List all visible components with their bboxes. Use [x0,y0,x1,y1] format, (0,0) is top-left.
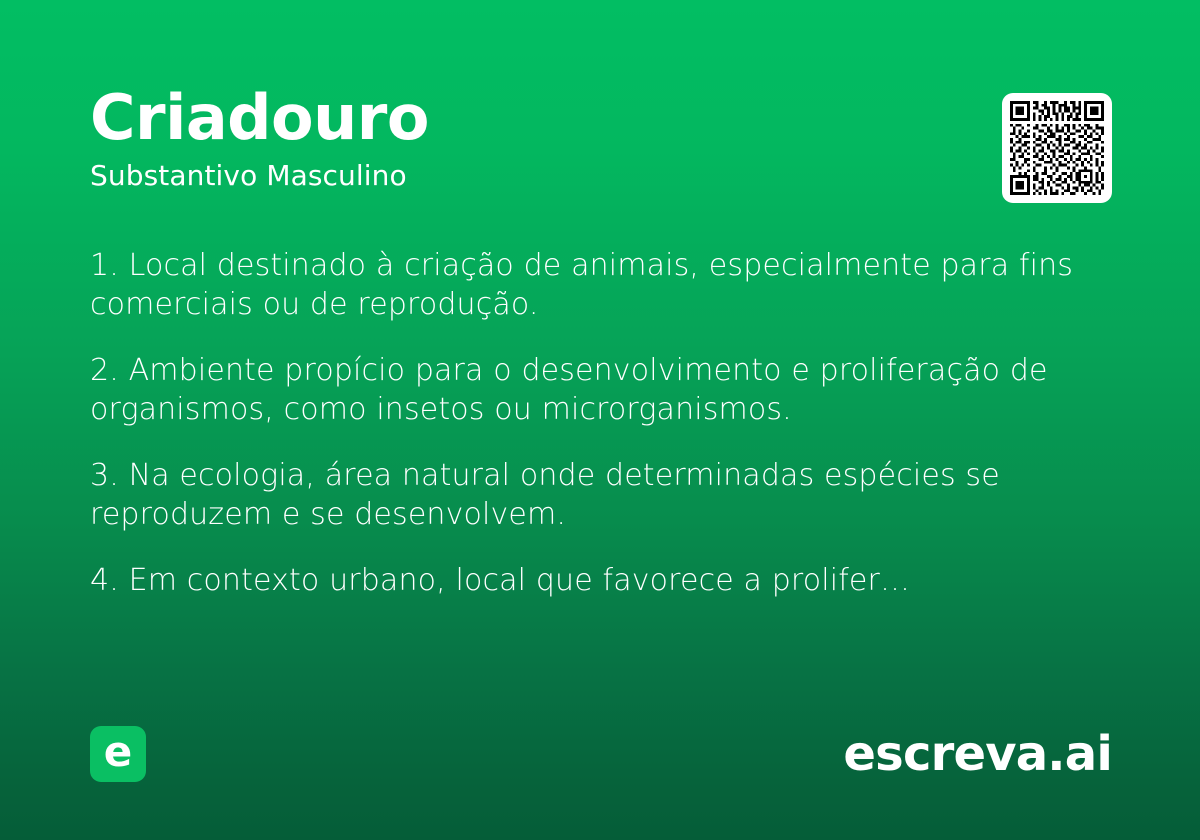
escreva-logo-icon: e [90,726,146,782]
definition-item: 2. Ambiente propício para o desenvolvime… [90,351,1090,429]
brand-wordmark: escreva.ai [843,728,1112,780]
logo-letter: e [104,731,133,773]
qr-code-icon [1010,101,1104,195]
word-class-label: Substantivo Masculino [90,160,1110,192]
card-header: Criadouro Substantivo Masculino [90,84,1110,214]
definition-item: 3. Na ecologia, área natural onde determ… [90,456,1090,534]
page-title: Criadouro [90,84,1110,152]
definition-item: 4. Em contexto urbano, local que favorec… [90,561,1090,600]
definition-card: Criadouro Substantivo Masculino [0,0,1200,840]
qr-code-card[interactable] [1002,93,1112,203]
definition-item: 1. Local destinado à criação de animais,… [90,246,1090,324]
card-footer: e escreva.ai [90,726,1112,782]
definitions-list: 1. Local destinado à criação de animais,… [90,246,1092,600]
